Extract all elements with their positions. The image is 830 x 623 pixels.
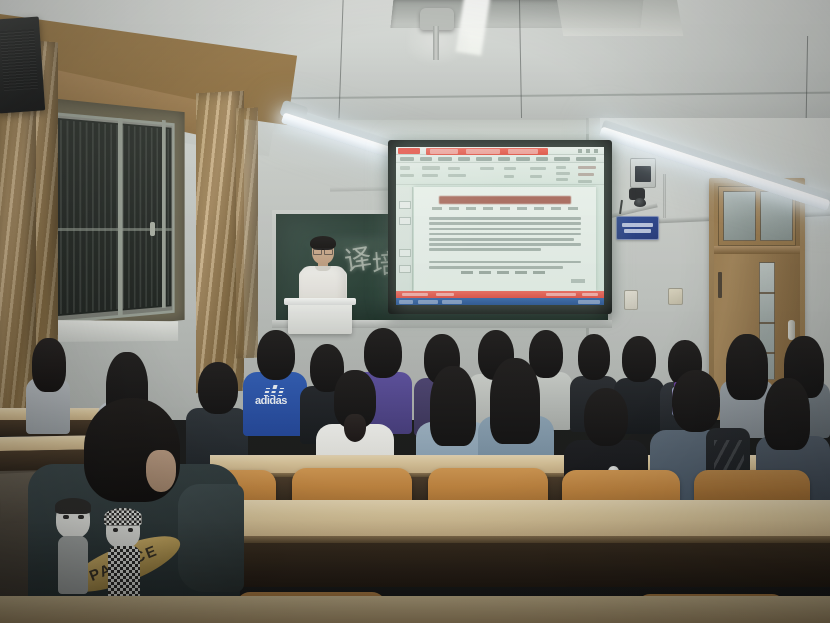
conduit-pipe [663,174,666,218]
wall-control-panel[interactable] [630,158,656,188]
toolbar-icon[interactable] [448,167,460,170]
student-palace-tshirt: PALACE [28,398,240,623]
projector-screen[interactable] [396,147,604,305]
cartoon-eye [63,515,69,519]
toolbar-icon[interactable] [530,175,542,178]
page-thumbnail[interactable] [399,265,411,273]
classroom-photo: 译 培 ? [0,0,830,623]
student-hair [672,370,720,432]
document-text-line [429,222,582,225]
zoom-control[interactable] [546,293,576,296]
door-hinge [718,272,722,298]
menu-item[interactable] [554,157,570,161]
document-page-number [571,279,585,283]
student-arm [178,484,244,592]
adidas-wordmark: adidas [255,397,297,406]
student-hair [32,338,66,392]
toolbar-icon[interactable] [578,166,596,169]
camera-dome-icon [634,198,646,207]
wall-sign-line-1 [622,223,653,227]
toolbar-icon[interactable] [504,167,516,170]
toolbar-icon[interactable] [480,167,494,170]
blue-wall-sign [616,216,659,240]
lecture-desk-edge [150,536,830,543]
page-thumbnail[interactable] [399,217,411,225]
toolbar-icon[interactable] [530,167,546,170]
palace-shirt-graphic: PALACE [54,496,182,604]
window-mullion [118,118,123,316]
document-text-line [429,266,564,269]
document-text-line [429,261,582,264]
student-face-side [146,450,176,492]
student-adidas-hoodie: adidas [243,330,307,436]
window-mullion [162,120,166,308]
menu-item[interactable] [420,157,432,161]
menu-item[interactable] [576,157,596,161]
toolbar-icon[interactable] [504,175,514,178]
toolbar-icon[interactable] [448,174,466,177]
door-strip-divider [759,322,775,324]
student-hair [764,378,810,450]
menu-item[interactable] [536,157,548,161]
document-page[interactable] [414,187,596,291]
toolbar-icon[interactable] [556,166,566,169]
app-tab-strip[interactable] [426,148,548,155]
cartoon-figure-body-2 [108,546,140,602]
document-signature-line [461,271,548,274]
door-strip-divider [759,292,775,294]
toolbar-icon[interactable] [578,180,592,183]
menu-item[interactable] [476,157,492,161]
menu-item[interactable] [438,157,452,161]
document-side-panel[interactable] [397,187,413,291]
menu-item[interactable] [400,157,414,161]
os-taskbar[interactable] [396,298,604,305]
toolbar-icon[interactable] [422,166,440,170]
app-status-bar [396,291,604,298]
menu-item[interactable] [458,157,470,161]
ponytail [344,414,366,442]
app-menu-ribbon[interactable] [396,155,604,163]
toolbar-icon[interactable] [556,178,568,181]
door-rail [714,246,800,254]
document-text-line [429,243,582,246]
toolbar-icon[interactable] [578,173,594,176]
cartoon-eye [78,515,84,519]
system-tray[interactable] [578,300,600,304]
status-text [402,293,428,296]
cartoon-eye [128,528,133,532]
status-text [436,293,454,296]
toolbar-icon[interactable] [422,174,438,177]
taskbar-item[interactable] [442,300,462,304]
student-hair [490,358,540,444]
document-title-line [439,196,570,204]
toolbar-icon[interactable] [556,172,570,175]
app-toolbar[interactable] [396,163,604,185]
cartoon-eye [113,528,118,532]
document-text-line [429,248,542,251]
toolbar-icon[interactable] [400,174,414,177]
document-text-line [429,233,582,236]
presenter-collar [315,266,331,271]
white-lectern [288,300,352,334]
app-tab[interactable] [466,149,500,154]
lecture-desk-front-row [150,500,830,536]
student-hair [430,366,476,446]
page-thumbnail[interactable] [399,249,411,257]
window-blinds [60,120,170,314]
view-buttons[interactable] [582,293,598,296]
document-text-line [429,238,575,241]
student-hair [257,330,295,380]
document-meta-row [432,207,578,210]
wall-sign-line-2 [624,229,651,233]
light-switch-1[interactable] [624,290,638,310]
glasses-icon [313,248,333,252]
start-button[interactable] [399,300,413,304]
app-tab[interactable] [508,149,538,154]
control-panel-screen [635,166,651,182]
app-titlebar [396,147,604,155]
curtain [236,108,258,359]
page-thumbnail[interactable] [399,201,411,209]
window-latch[interactable] [150,222,155,236]
door-glass-pane [723,191,756,241]
lecture-desk-front-panel [150,543,830,587]
cartoon-figure-hair-1 [55,498,91,514]
taskbar-item[interactable] [418,300,438,304]
app-logo-icon [398,148,420,154]
light-switch-2[interactable] [668,288,683,305]
ceiling-fan-rod [433,26,439,60]
student-hair [578,334,610,380]
lectern-top [284,298,356,305]
window-controls-icon[interactable] [578,149,602,153]
document-text-line [429,217,582,220]
app-tab[interactable] [430,149,458,154]
lecture-desk-bottom [0,596,830,623]
student-hair [584,388,628,446]
toolbar-icon[interactable] [400,166,410,170]
cartoon-figure-hair-2 [104,508,142,526]
speaker-grill [0,29,38,91]
menu-item[interactable] [516,157,530,161]
ceiling-recess-panel-2 [557,0,684,36]
menu-item[interactable] [498,157,510,161]
cartoon-figure-body-1 [58,536,88,594]
document-text-line [429,228,582,231]
